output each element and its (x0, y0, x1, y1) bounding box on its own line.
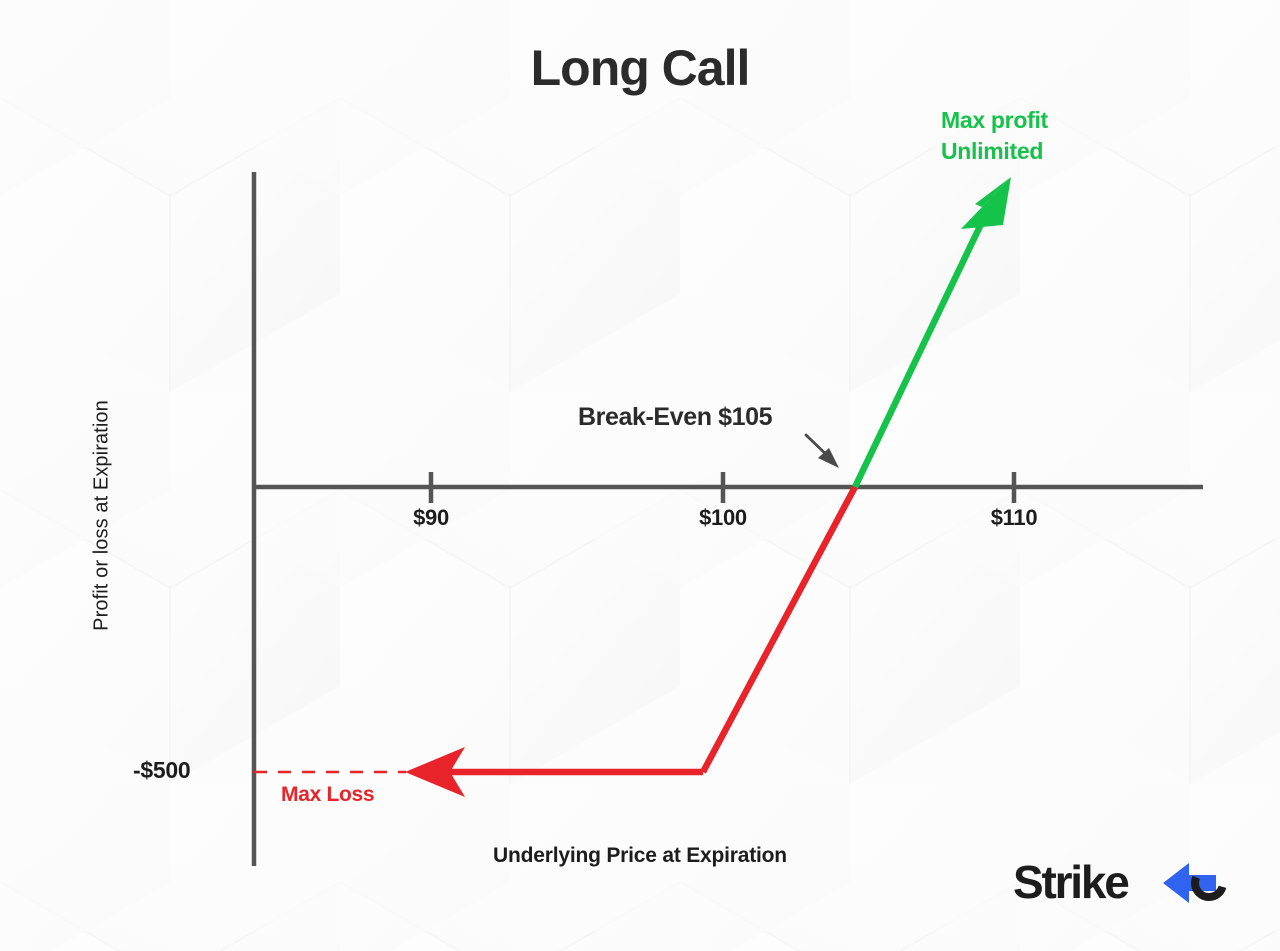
max-profit-annotation: Max profitUnlimited (941, 105, 1048, 167)
x-tick-label-100: $100 (699, 505, 747, 531)
page-title: Long Call (0, 39, 1280, 97)
y-axis-title: Profit or loss at Expiration (91, 351, 114, 681)
break-even-annotation: Break-Even $105 (578, 403, 772, 432)
strike-logo-text: Strike (1013, 857, 1129, 908)
max-loss-annotation: Max Loss (281, 783, 374, 807)
break-even-pointer-arrow (806, 435, 839, 468)
x-tick-label-90: $90 (413, 505, 449, 531)
strike-logo: Strike (1013, 857, 1228, 909)
profit-payoff-line (855, 197, 994, 487)
y-tick-label-minus-500: -$500 (133, 757, 190, 784)
chart-canvas: Long Call Max profitUnlimited Break-Even… (0, 0, 1280, 951)
payoff-diagram (0, 0, 1280, 951)
max-profit-arrowhead-fill (961, 177, 1011, 229)
max-profit-line-1: Max profit (941, 107, 1048, 133)
x-tick-label-110: $110 (991, 505, 1038, 531)
max-profit-line-2: Unlimited (941, 138, 1043, 164)
